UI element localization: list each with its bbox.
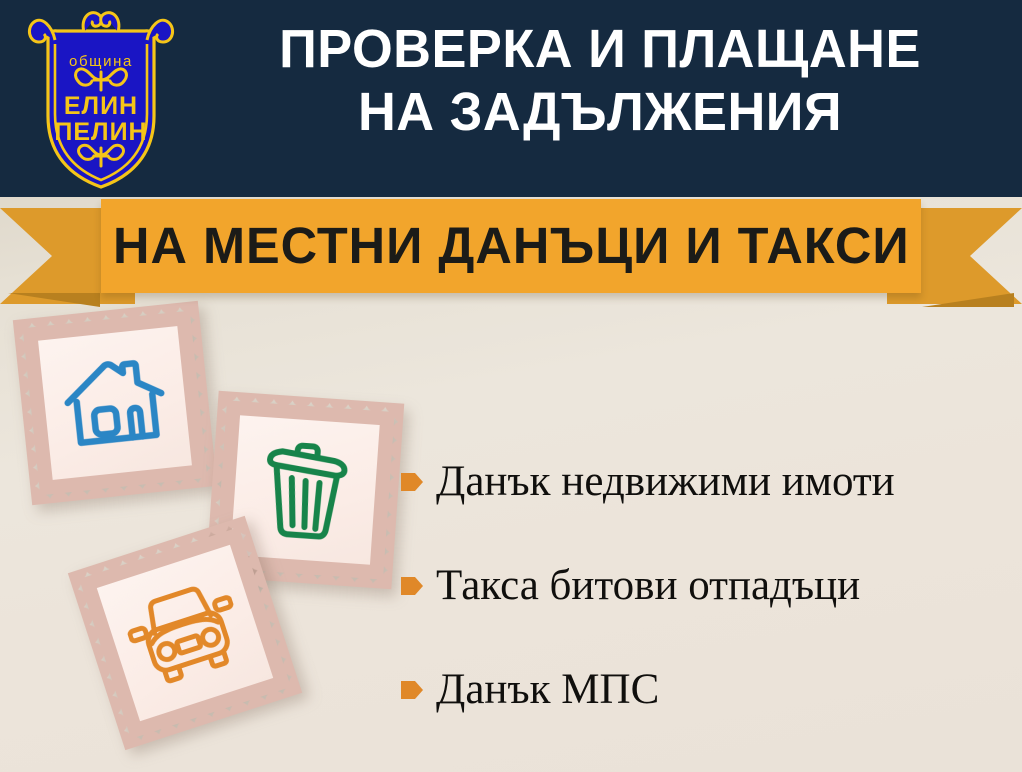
list-item-label: Такса битови отпадъци — [436, 562, 860, 610]
stamp-card-property — [13, 301, 217, 505]
crest-svg: община ЕЛИН ПЕЛИН — [22, 4, 180, 194]
subtitle-ribbon: НА МЕСТНИ ДАНЪЦИ И ТАКСИ — [0, 196, 1022, 311]
ribbon-subtitle: НА МЕСТНИ ДАНЪЦИ И ТАКСИ — [113, 220, 910, 272]
car-front-icon — [118, 572, 251, 693]
page-title-line-2: НА ЗАДЪЛЖЕНИЯ — [202, 81, 997, 144]
header-title-block: ПРОВЕРКА И ПЛАЩАНЕ НА ЗАДЪЛЖЕНИЯ — [190, 18, 1010, 144]
service-list: Данък недвижими имоти Такса битови отпад… — [398, 430, 1008, 742]
arrow-bullet-icon — [398, 469, 430, 495]
crest-name-line-2: ПЕЛИН — [54, 118, 147, 146]
trash-can-icon — [254, 435, 355, 545]
list-item[interactable]: Такса битови отпадъци — [398, 534, 1008, 638]
house-icon — [58, 351, 171, 455]
list-item[interactable]: Данък МПС — [398, 638, 1008, 742]
ribbon-body: НА МЕСТНИ ДАНЪЦИ И ТАКСИ — [101, 199, 921, 293]
page-title-line-1: ПРОВЕРКА И ПЛАЩАНЕ — [202, 18, 997, 81]
ribbon-fold-right — [922, 293, 1014, 307]
ribbon-fold-left — [8, 293, 100, 307]
poster-root: община ЕЛИН ПЕЛИН — [0, 0, 1022, 772]
header-bar: община ЕЛИН ПЕЛИН — [0, 0, 1022, 197]
crest-name-line-1: ЕЛИН — [64, 92, 138, 120]
list-item[interactable]: Данък недвижими имоти — [398, 430, 1008, 534]
arrow-bullet-icon — [398, 677, 430, 703]
municipality-crest: община ЕЛИН ПЕЛИН — [22, 4, 180, 194]
crest-line-obshtina: община — [69, 53, 133, 70]
list-item-label: Данък недвижими имоти — [436, 458, 895, 506]
arrow-bullet-icon — [398, 573, 430, 599]
list-item-label: Данък МПС — [436, 666, 659, 714]
stamp-paper — [38, 326, 192, 480]
